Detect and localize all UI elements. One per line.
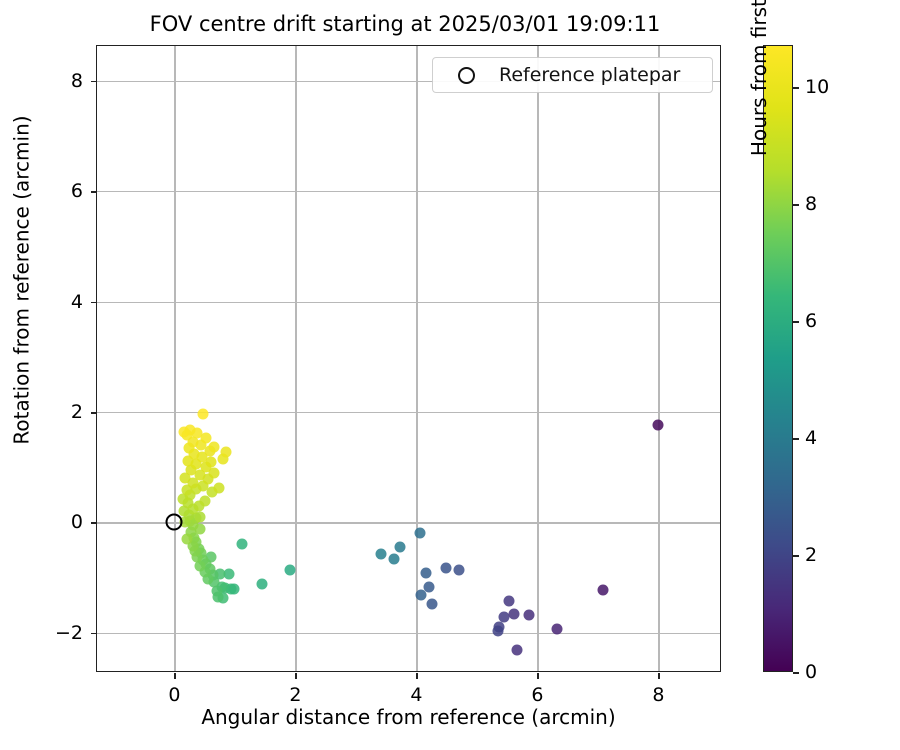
legend[interactable]: Reference platepar bbox=[432, 57, 713, 93]
open-circle-icon bbox=[458, 67, 475, 84]
plot-area: 02468−202468 bbox=[96, 45, 721, 672]
gridline-horizontal bbox=[97, 191, 720, 192]
x-tick-mark bbox=[295, 673, 297, 679]
scatter-point bbox=[509, 608, 520, 619]
colorbar-tick-label: 6 bbox=[805, 310, 817, 332]
colorbar-tick-mark bbox=[793, 87, 799, 89]
scatter-point bbox=[652, 420, 663, 431]
gridline-vertical bbox=[658, 46, 659, 671]
x-tick-label: 4 bbox=[410, 684, 422, 706]
scatter-point bbox=[416, 589, 427, 600]
scatter-point bbox=[220, 446, 231, 457]
colorbar-tick-label: 8 bbox=[805, 193, 817, 215]
gridline-horizontal bbox=[97, 302, 720, 303]
x-tick-mark bbox=[174, 673, 176, 679]
y-tick-mark bbox=[91, 633, 97, 635]
scatter-point bbox=[214, 482, 225, 493]
colorbar-label: Hours from first FF file bbox=[747, 0, 771, 358]
y-tick-mark bbox=[91, 302, 97, 304]
gridline-horizontal bbox=[97, 412, 720, 413]
y-tick-label: 6 bbox=[71, 180, 83, 202]
gridline-vertical bbox=[537, 46, 538, 671]
x-tick-label: 6 bbox=[531, 684, 543, 706]
y-tick-mark bbox=[91, 81, 97, 83]
scatter-point bbox=[199, 496, 210, 507]
scatter-point bbox=[504, 595, 515, 606]
scatter-point bbox=[389, 553, 400, 564]
scatter-point bbox=[394, 542, 405, 553]
gridline-vertical bbox=[295, 46, 296, 671]
colorbar-tick-mark bbox=[793, 204, 799, 206]
x-axis-label: Angular distance from reference (arcmin) bbox=[96, 705, 721, 729]
scatter-point bbox=[523, 610, 534, 621]
legend-marker bbox=[433, 67, 499, 84]
scatter-point bbox=[197, 408, 208, 419]
scatter-point bbox=[209, 442, 220, 453]
colorbar-tick-label: 2 bbox=[805, 544, 817, 566]
scatter-point bbox=[551, 623, 562, 634]
scatter-point bbox=[427, 599, 438, 610]
colorbar-tick-mark bbox=[793, 321, 799, 323]
colorbar-tick-mark bbox=[793, 555, 799, 557]
legend-label: Reference platepar bbox=[499, 64, 680, 86]
scatter-point bbox=[441, 563, 452, 574]
scatter-point bbox=[512, 645, 523, 656]
y-tick-label: 8 bbox=[71, 70, 83, 92]
gridline-vertical bbox=[174, 46, 175, 671]
x-tick-mark bbox=[537, 673, 539, 679]
x-tick-mark bbox=[658, 673, 660, 679]
scatter-point bbox=[178, 426, 189, 437]
y-tick-label: 4 bbox=[71, 291, 83, 313]
y-axis-label: Rotation from reference (arcmin) bbox=[10, 0, 34, 594]
colorbar-tick-label: 4 bbox=[805, 427, 817, 449]
y-tick-label: 2 bbox=[71, 401, 83, 423]
x-tick-label: 2 bbox=[289, 684, 301, 706]
scatter-point bbox=[211, 586, 222, 597]
scatter-point bbox=[492, 626, 503, 637]
x-tick-label: 0 bbox=[168, 684, 180, 706]
colorbar-tick-mark bbox=[793, 672, 799, 674]
scatter-point bbox=[181, 533, 192, 544]
scatter-point bbox=[376, 548, 387, 559]
scatter-point bbox=[195, 511, 206, 522]
scatter-point bbox=[454, 564, 465, 575]
scatter-point bbox=[420, 568, 431, 579]
gridline-vertical bbox=[416, 46, 417, 671]
figure: FOV centre drift starting at 2025/03/01 … bbox=[0, 0, 900, 750]
gridline-horizontal bbox=[97, 633, 720, 634]
y-tick-label: −2 bbox=[55, 622, 83, 644]
x-tick-mark bbox=[416, 673, 418, 679]
y-tick-mark bbox=[91, 191, 97, 193]
reference-platepar-marker bbox=[166, 514, 183, 531]
scatter-point bbox=[598, 584, 609, 595]
colorbar-tick-label: 0 bbox=[805, 661, 817, 683]
scatter-point bbox=[237, 539, 248, 550]
y-tick-label: 0 bbox=[71, 511, 83, 533]
y-tick-mark bbox=[91, 412, 97, 414]
scatter-point bbox=[257, 578, 268, 589]
scatter-point bbox=[415, 528, 426, 539]
y-tick-mark bbox=[91, 522, 97, 524]
colorbar-tick-mark bbox=[793, 438, 799, 440]
x-tick-label: 8 bbox=[652, 684, 664, 706]
scatter-point bbox=[194, 561, 205, 572]
colorbar-tick-label: 10 bbox=[805, 76, 829, 98]
chart-title: FOV centre drift starting at 2025/03/01 … bbox=[0, 12, 810, 36]
scatter-point bbox=[285, 564, 296, 575]
